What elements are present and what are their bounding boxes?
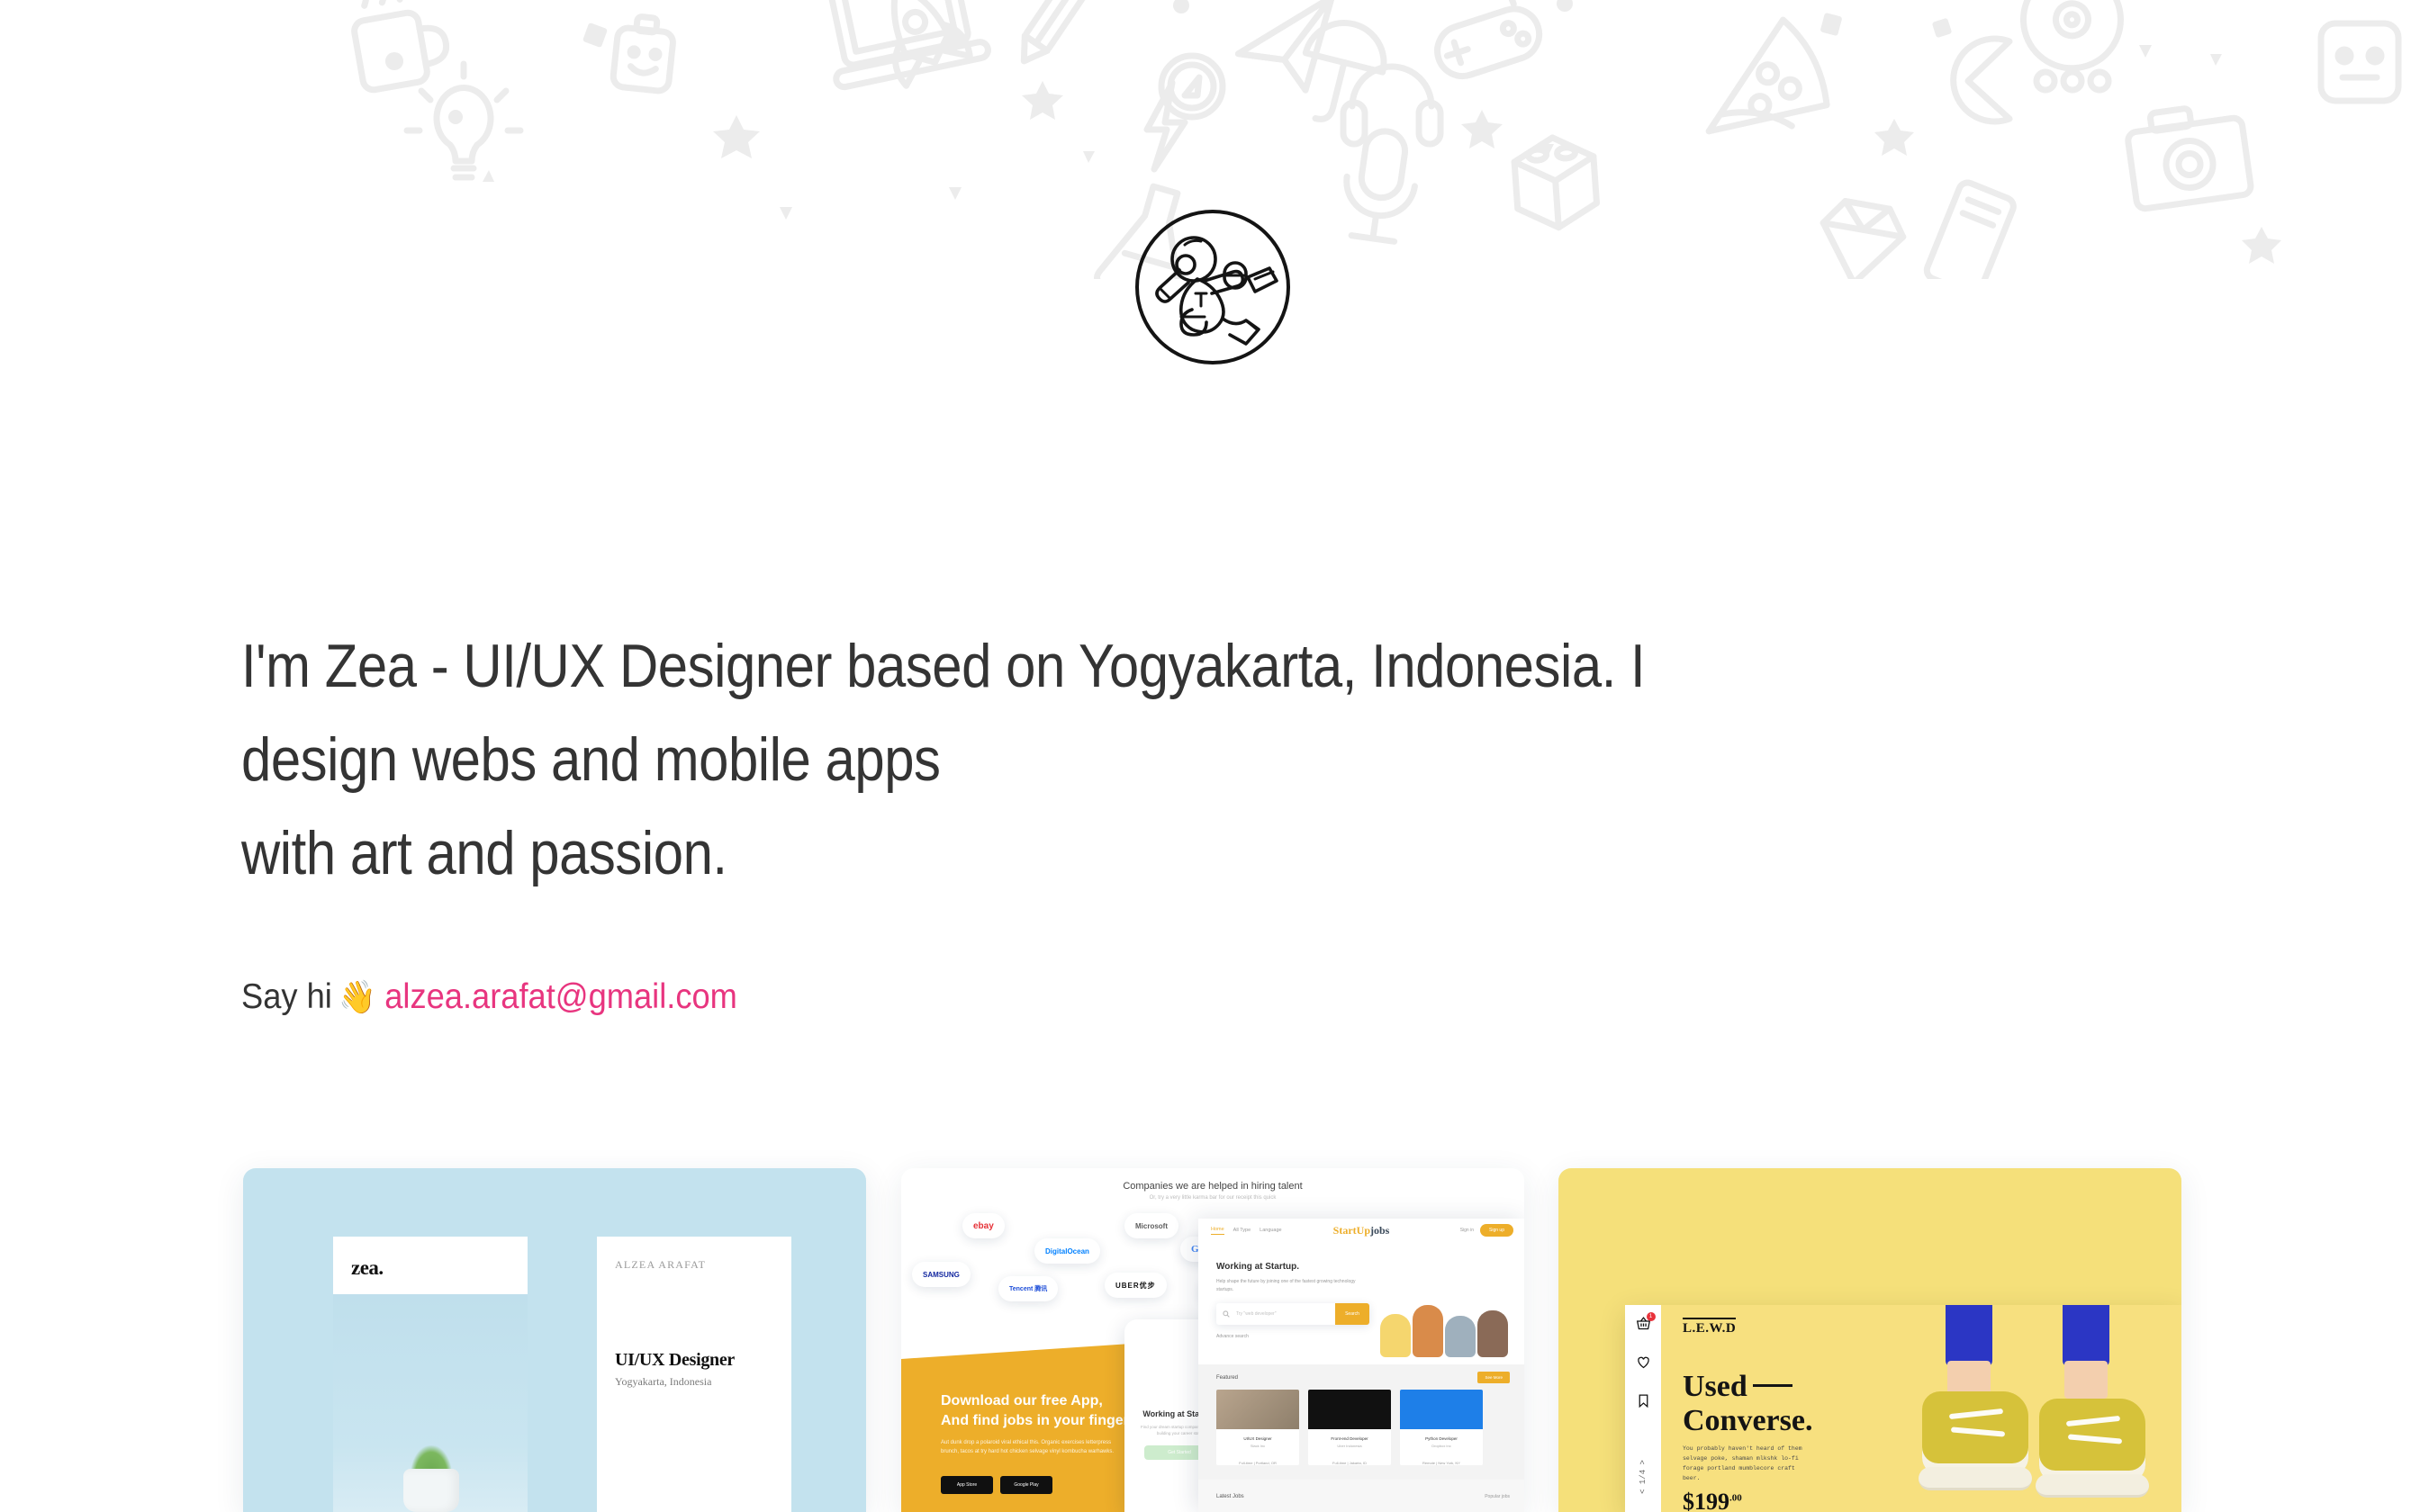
right-leg: [2063, 1305, 2109, 1366]
product-price: $199.00: [1683, 1489, 1742, 1512]
shop-sidebar: 1 < 1/4 >: [1625, 1305, 1661, 1512]
page-title: I'm Zea - UI/UX Designer based on Yogyak…: [241, 619, 1865, 900]
logo-chip-tencent: Tencent 腾讯: [998, 1276, 1058, 1301]
project-card-zea-branding[interactable]: zea. ALZEA ARAFAT UI/UX Designer Yogyaka…: [243, 1168, 866, 1512]
job-card-list: UI/UX Designer Slack Inc Full-time | Por…: [1216, 1390, 1483, 1465]
website-mock: Home All Type Language StartUpjobs Sign …: [1198, 1219, 1524, 1512]
job-title: UI/UX Designer: [1216, 1436, 1299, 1441]
logo-chip-ebay: ebay: [962, 1213, 1005, 1238]
see-more-button[interactable]: See More: [1477, 1372, 1510, 1383]
shop-page-mock: 1 < 1/4 > L.E.W.D: [1625, 1305, 2181, 1512]
contact-line: Say hi 👋 alzea.arafat@gmail.com: [241, 976, 737, 1019]
product-title: Used Converse.: [1683, 1370, 1812, 1438]
zea-wordmark: zea.: [351, 1256, 384, 1280]
logos-section-title: Companies we are helped in hiring talent: [1024, 1181, 1402, 1192]
google-play-badge[interactable]: Google Play: [1000, 1476, 1052, 1494]
slide-pager[interactable]: < 1/4 >: [1639, 1460, 1648, 1494]
site-brand: StartUpjobs: [1333, 1224, 1390, 1237]
search-button[interactable]: Search: [1335, 1303, 1369, 1325]
job-company: Uber Indonesia: [1308, 1444, 1391, 1448]
popular-jobs-dropdown[interactable]: Popular jobs: [1485, 1494, 1510, 1499]
product-description: You probably haven't heard of them selva…: [1683, 1444, 1810, 1483]
shopping-basket-icon[interactable]: 1: [1636, 1316, 1651, 1335]
job-location: Remote | New York, NY: [1400, 1461, 1483, 1465]
left-leg: [1946, 1305, 1992, 1366]
person-1: [1380, 1314, 1411, 1357]
left-sole: [1919, 1467, 2032, 1490]
search-placeholder: Try "web developer": [1236, 1311, 1277, 1317]
project-card-lewd-shop[interactable]: 1 < 1/4 > L.E.W.D: [1558, 1168, 2181, 1512]
person-2: [1413, 1305, 1443, 1357]
team-illustration: [1380, 1274, 1515, 1357]
job-company: Slack Inc: [1216, 1444, 1299, 1448]
heart-icon[interactable]: [1636, 1354, 1651, 1373]
person-4: [1477, 1310, 1508, 1357]
nav-item-home[interactable]: Home: [1211, 1227, 1224, 1235]
waving-hand-icon: 👋: [339, 981, 376, 1013]
nav-signin-link[interactable]: Sign in: [1460, 1228, 1474, 1233]
say-hi-label: Say hi: [241, 976, 332, 1019]
site-hero: Working at Startup. Help shape the futur…: [1198, 1242, 1524, 1364]
converse-shoes-photo: [1886, 1305, 2181, 1512]
logo-chip-uber: UBER优步: [1105, 1273, 1167, 1298]
job-card[interactable]: Front-end Developer Uber Indonesia Full-…: [1308, 1390, 1391, 1465]
cart-badge: 1: [1647, 1312, 1656, 1321]
business-card-mock: ALZEA ARAFAT UI/UX Designer Yogyakarta, …: [597, 1237, 791, 1512]
job-thumbnail: [1400, 1390, 1483, 1429]
search-icon: [1223, 1310, 1230, 1318]
job-company: Dropbox Inc: [1400, 1444, 1483, 1448]
branding-stationery-mock: zea.: [333, 1237, 528, 1512]
site-navbar: Home All Type Language StartUpjobs Sign …: [1198, 1219, 1524, 1242]
job-thumbnail: [1308, 1390, 1391, 1429]
site-hero-title: Working at Startup.: [1216, 1262, 1299, 1272]
person-3: [1445, 1316, 1476, 1357]
portfolio-page: I'm Zea - UI/UX Designer based on Yogyak…: [0, 0, 2420, 1512]
featured-section: Featured See More UI/UX Designer Slack I…: [1198, 1364, 1524, 1480]
shop-brand-wordmark: L.E.W.D: [1683, 1318, 1736, 1336]
nav-signup-button[interactable]: Sign up: [1480, 1224, 1513, 1237]
site-hero-subtitle: Help shape the future by joining one of …: [1216, 1278, 1360, 1294]
advance-search-toggle[interactable]: Advance search: [1216, 1334, 1249, 1339]
right-ankle: [2064, 1361, 2108, 1399]
job-location: Full-time | Jakarta, ID: [1308, 1461, 1391, 1465]
nav-item-language[interactable]: Language: [1260, 1228, 1281, 1233]
project-gallery: zea. ALZEA ARAFAT UI/UX Designer Yogyaka…: [0, 1168, 2420, 1512]
logo-chip-microsoft: Microsoft: [1124, 1213, 1178, 1238]
job-thumbnail: [1216, 1390, 1299, 1429]
job-title: Front-end Developer: [1308, 1436, 1391, 1441]
headline-line-3: with art and passion.: [241, 806, 1865, 900]
store-badges: App Store Google Play: [941, 1476, 1052, 1494]
logos-section-subtitle: Or, try a very little karma bar for our …: [1042, 1195, 1384, 1201]
job-card[interactable]: UI/UX Designer Slack Inc Full-time | Por…: [1216, 1390, 1299, 1465]
job-location: Full-time | Portland, OR: [1216, 1461, 1299, 1465]
job-search-input[interactable]: Try "web developer" Search: [1216, 1303, 1369, 1325]
bookmark-icon[interactable]: [1636, 1393, 1651, 1412]
project-card-startupjobs[interactable]: Companies we are helped in hiring talent…: [901, 1168, 1524, 1512]
astronaut-logo-icon[interactable]: [1129, 203, 1296, 371]
nav-item-all-type[interactable]: All Type: [1233, 1228, 1251, 1233]
headline-line-1: I'm Zea - UI/UX Designer based on Yogyak…: [241, 619, 1865, 713]
business-card-role: UI/UX Designer: [615, 1350, 735, 1371]
featured-label: Featured: [1216, 1375, 1238, 1381]
right-sole: [2036, 1474, 2149, 1498]
app-store-badge[interactable]: App Store: [941, 1476, 993, 1494]
logo-chip-digitalocean: DigitalOcean: [1034, 1238, 1100, 1264]
landing-page-mock: Companies we are helped in hiring talent…: [901, 1168, 1524, 1512]
email-link[interactable]: alzea.arafat@gmail.com: [384, 976, 737, 1019]
logo-chip-samsung: SAMSUNG: [912, 1262, 971, 1287]
job-title: Python Developer: [1400, 1436, 1483, 1441]
plant-photo: [333, 1294, 528, 1512]
plant-pot-icon: [403, 1469, 459, 1512]
latest-jobs-label: Latest Jobs: [1216, 1494, 1244, 1499]
app-promo-body: Aut dunk drop a polaroid viral ethical t…: [941, 1438, 1121, 1456]
job-card[interactable]: Python Developer Dropbox Inc Remote | Ne…: [1400, 1390, 1483, 1465]
headline-line-2: design webs and mobile apps: [241, 713, 1865, 806]
business-card-name: ALZEA ARAFAT: [615, 1258, 706, 1272]
business-card-location: Yogyakarta, Indonesia: [615, 1375, 711, 1389]
